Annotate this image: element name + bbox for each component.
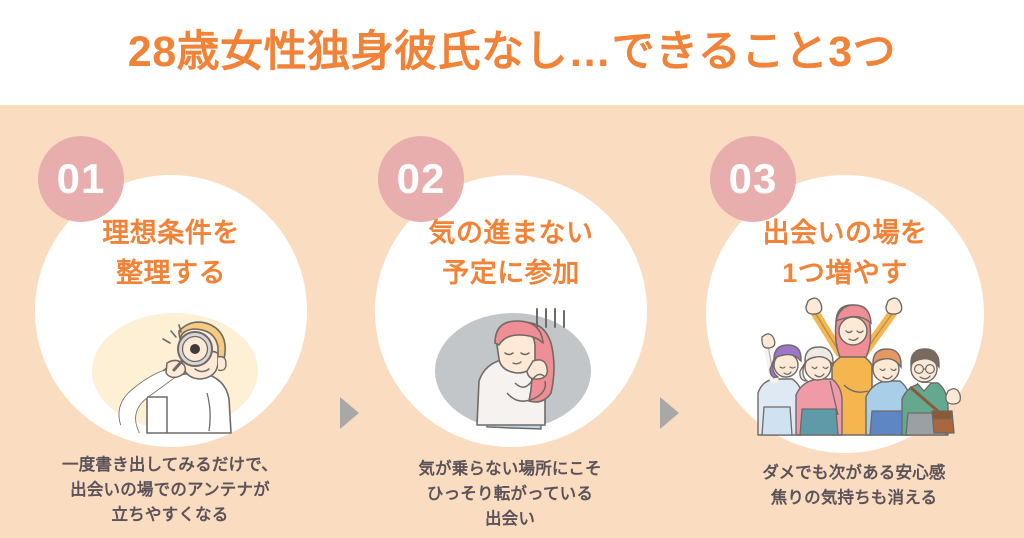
step-card-01: 01 理想条件を 整理する (0, 105, 340, 538)
step-badge-02: 02 (378, 136, 464, 222)
arrow-step1-to-step2 (340, 397, 359, 429)
step-badge-number: 01 (57, 158, 106, 200)
step-heading-02: 気の進まない 予定に参加 (375, 213, 647, 293)
caption-line: 出会い (340, 507, 680, 532)
step-card-03: 03 出会いの場を 1つ増やす (684, 105, 1024, 538)
caption-line: 気が乗らない場所にこそ (340, 457, 680, 482)
cheering-group-of-friends-icon (744, 287, 959, 435)
step-heading-03: 出会いの場を 1つ増やす (706, 213, 984, 293)
caption-line: 出会いの場でのアンテナが (0, 478, 340, 503)
step-card-02: 02 気の進まない 予定に参加 (340, 105, 680, 538)
step-heading-line: 整理する (35, 253, 307, 293)
step-caption-02: 気が乗らない場所にこそ ひっそり転がっている 出会い (340, 457, 680, 532)
infographic-canvas: 28歳女性独身彼氏なし…できること3つ 01 理想条件を 整理する (0, 0, 1024, 538)
dejected-woman-icon (415, 301, 610, 433)
caption-line: ひっそり転がっている (340, 482, 680, 507)
step-badge-01: 01 (38, 136, 124, 222)
step-caption-03: ダメでも次がある安心感 焦りの気持ちも消える (684, 461, 1024, 511)
caption-line: 焦りの気持ちも消える (684, 486, 1024, 511)
page-title: 28歳女性独身彼氏なし…できること3つ (0, 26, 1024, 78)
caption-line: 立ちやすくなる (0, 503, 340, 528)
arrow-step2-to-step3 (660, 397, 679, 429)
person-with-magnifying-glass-icon (75, 301, 270, 433)
step-caption-01: 一度書き出してみるだけで、 出会いの場でのアンテナが 立ちやすくなる (0, 453, 340, 528)
caption-line: ダメでも次がある安心感 (684, 461, 1024, 486)
step-heading-01: 理想条件を 整理する (35, 213, 307, 293)
body-band: 01 理想条件を 整理する (0, 105, 1024, 538)
step-badge-number: 03 (729, 158, 778, 200)
header-band: 28歳女性独身彼氏なし…できること3つ (0, 0, 1024, 105)
step-badge-03: 03 (710, 136, 796, 222)
step-heading-line: 予定に参加 (375, 253, 647, 293)
caption-line: 一度書き出してみるだけで、 (0, 453, 340, 478)
step-badge-number: 02 (397, 158, 446, 200)
